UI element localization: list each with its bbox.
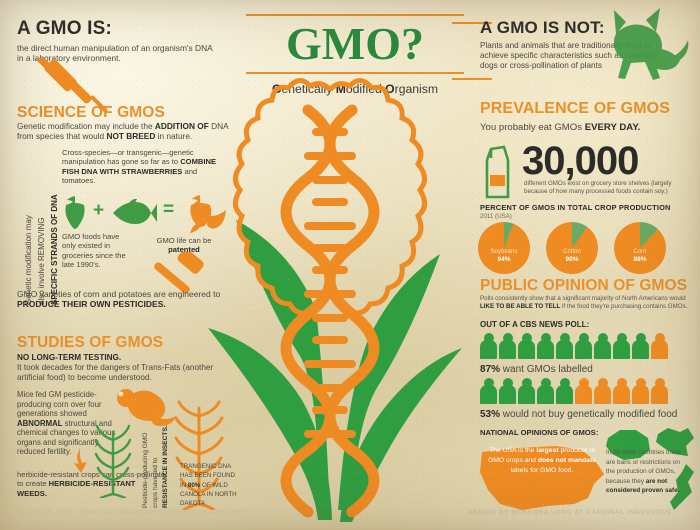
pie-soybeans-value: 94%: [478, 256, 530, 265]
other-countries-opinion-text: In 30 other countries there are bans or …: [606, 448, 684, 496]
person-icon-remainder: [594, 378, 611, 404]
science-intro-pre: Genetic modification may include the: [17, 121, 155, 131]
pie-corn-label: Corn 88%: [614, 248, 666, 265]
crop-pie-chart-group: Soybeans 94% Cotton 90% Corn 88%: [478, 222, 693, 274]
design-credit: DESIGN BY MCKENNA LONG AT CARDINAL INNOV…: [468, 509, 672, 516]
person-icon: [518, 378, 535, 404]
science-groceries-note: GMO foods have only existed in groceries…: [62, 232, 134, 269]
pie-cotton-name: Cotton: [563, 249, 581, 255]
down-arrow-icon: [72, 448, 88, 474]
mice-strong: ABNORMAL: [17, 419, 62, 428]
prevalence-lede: You probably eat GMOs EVERY DAY.: [480, 122, 640, 134]
resistance-line-1: Pesticide-producing GMO: [142, 433, 150, 509]
person-icon: [537, 378, 554, 404]
green-corn-plant-icon: [90, 420, 136, 498]
person-icon: [613, 333, 630, 359]
person-icon: [594, 333, 611, 359]
opinion-lede-pre: Polls consistently show that a significa…: [480, 295, 686, 302]
equation-equals: =: [163, 199, 174, 221]
person-icon-remainder: [632, 378, 649, 404]
pie-chart-cotton: Cotton 90%: [546, 222, 598, 274]
page-title: GMO?: [246, 16, 464, 72]
pie-chart-corn: Corn 88%: [614, 222, 666, 274]
stat-53-pct: 53%: [480, 409, 500, 420]
cbs-poll-heading: OUT OF A CBS NEWS POLL:: [480, 320, 589, 329]
poster-title-block: GMO?: [246, 16, 464, 72]
prevalence-big-number-note: different GMOs exist on grocery store sh…: [524, 180, 692, 196]
person-icon-remainder: [651, 333, 668, 359]
person-icon: [537, 333, 554, 359]
people-row-53: [480, 378, 668, 404]
studies-section-title: STUDIES OF GMOS: [17, 334, 163, 352]
usa-largest: largest: [536, 447, 558, 454]
other-pre: In 30 other countries there are bans or …: [606, 449, 681, 485]
crop-chart-heading: PERCENT OF GMOS IN TOTAL CROP PRODUCTION: [480, 203, 671, 212]
person-icon-remainder: [575, 378, 592, 404]
person-icon: [480, 378, 497, 404]
pie-cotton-label: Cotton 90%: [546, 248, 598, 265]
stat-87-text: want GMOs labelled: [500, 364, 593, 375]
opinion-section-title: PUBLIC OPINION OF GMOS: [480, 277, 687, 295]
prevalence-big-number: 30,000: [522, 140, 638, 182]
crop-chart-subheading: 2011 (USA): [480, 213, 512, 220]
science-section-title: SCIENCE OF GMOS: [17, 104, 165, 122]
pie-soybeans-name: Soybeans: [491, 249, 518, 255]
transgenic-pre: Cross-species—or transgenic—genetic mani…: [62, 148, 194, 166]
equation-plus: +: [93, 200, 104, 222]
fish-icon: [111, 199, 157, 227]
resistance-line-2: crops have led to: [152, 458, 160, 508]
stat-87-pct: 87%: [480, 364, 500, 375]
pie-cotton-value: 90%: [546, 256, 598, 265]
pie-corn-value: 88%: [614, 256, 666, 265]
opinion-lede-strong: LIKE TO BE ABLE TO TELL: [480, 303, 560, 310]
science-intro-post: in nature.: [155, 131, 192, 141]
opinion-stat-87: 87% want GMOs labelled: [480, 364, 593, 376]
opinion-stat-53: 53% would not buy genetically modified f…: [480, 409, 677, 421]
pie-soybeans-label: Soybeans 94%: [478, 248, 530, 265]
person-icon: [480, 333, 497, 359]
person-icon-remainder: [651, 378, 668, 404]
science-rotated-note: Genetic modification may also involve RE…: [18, 150, 64, 310]
strawberry-icon: [62, 194, 88, 230]
corn-dna-illustration: [190, 70, 470, 530]
prevalence-lede-pre: You probably eat GMOs: [480, 122, 585, 133]
milk-carton-icon: [481, 144, 515, 200]
sources-line: SOURCES: HTTP://WWW.NON-GMOREPORT.COM/IN…: [18, 509, 245, 516]
pie-chart-soybeans: Soybeans 94%: [478, 222, 530, 274]
national-opinions-heading: NATIONAL OPINIONS OF GMOS:: [480, 428, 598, 437]
definition-is-heading: A GMO IS:: [17, 18, 232, 40]
stat-53-text: would not buy genetically modified food: [500, 409, 677, 420]
person-icon: [632, 333, 649, 359]
canola-in: IN: [180, 482, 188, 489]
pie-corn-name: Corn: [633, 249, 646, 255]
definition-is-block: A GMO IS: the direct human manipulation …: [17, 18, 232, 64]
usa-post: labels for GMO food.: [511, 467, 574, 474]
person-icon: [499, 378, 516, 404]
infographic-poster: A GMO IS: the direct human manipulation …: [0, 0, 700, 530]
person-icon: [556, 378, 573, 404]
prevalence-section-title: PREVALENCE OF GMOS: [480, 100, 670, 118]
person-icon-remainder: [613, 378, 630, 404]
usa-does-not-mandate: does not mandate: [538, 457, 596, 464]
opinion-lede-post: if the food they're purchasing contains …: [560, 303, 687, 310]
studies-no-testing-heading: NO LONG-TERM TESTING.: [17, 353, 121, 362]
person-icon: [575, 333, 592, 359]
usa-opinion-text: The USA is the largest producer of GMO c…: [482, 446, 602, 477]
person-icon: [518, 333, 535, 359]
person-icon: [499, 333, 516, 359]
pesticides-strong: PRODUCE THEIR OWN PESTICIDES.: [17, 299, 166, 309]
mice-pre: Mice fed GM pesticide-producing corn ove…: [17, 390, 102, 418]
science-intro-strong2: NOT BREED: [106, 131, 155, 141]
chihuahua-dog-icon: [600, 8, 690, 86]
person-icon: [556, 333, 573, 359]
usa-pre: The USA is the: [489, 447, 536, 454]
prevalence-lede-strong: EVERY DAY.: [585, 122, 641, 133]
people-row-87: [480, 333, 668, 359]
opinion-lede: Polls consistently show that a significa…: [480, 295, 692, 311]
